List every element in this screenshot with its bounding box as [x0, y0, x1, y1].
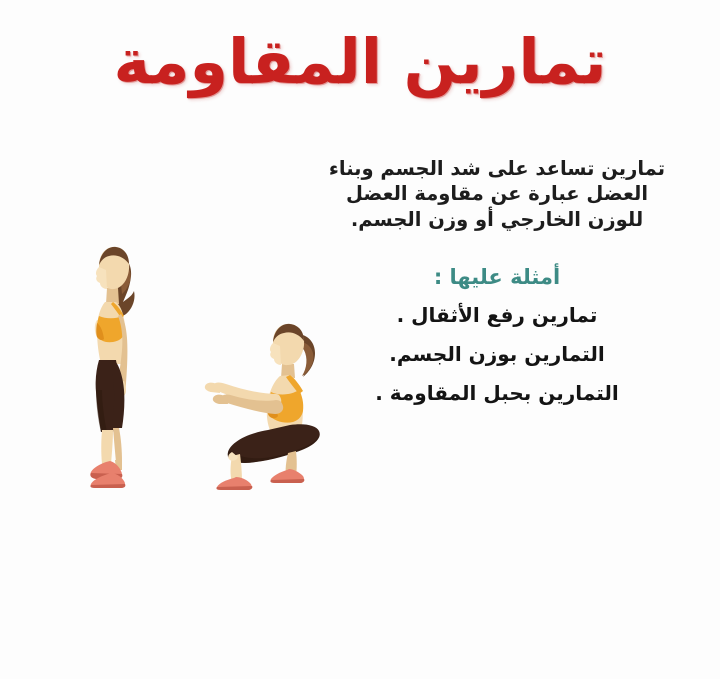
- exercise-illustration: [58, 228, 333, 503]
- examples-heading: أمثلة عليها :: [321, 265, 673, 289]
- list-item: تمارين رفع الأثقال .: [321, 305, 673, 325]
- squatting-woman-illustration: [176, 320, 328, 490]
- intro-line-3: للوزن الخارجي أو وزن الجسم.: [321, 207, 673, 232]
- examples-list: تمارين رفع الأثقال . التمارين بوزن الجسم…: [321, 305, 673, 403]
- page-title: تمارين المقاومة: [0, 26, 720, 97]
- standing-woman-illustration: [66, 240, 152, 488]
- intro-line-2: العضل عبارة عن مقاومة العضل: [321, 181, 673, 206]
- infographic-canvas: تمارين المقاومة: [0, 0, 720, 679]
- intro-paragraph: تمارين تساعد على شد الجسم وبناء العضل عب…: [321, 156, 673, 232]
- intro-line-1: تمارين تساعد على شد الجسم وبناء: [321, 156, 673, 181]
- text-column: تمارين تساعد على شد الجسم وبناء العضل عب…: [321, 156, 673, 422]
- list-item: التمارين بوزن الجسم.: [321, 344, 673, 364]
- list-item: التمارين بحبل المقاومة .: [321, 383, 673, 403]
